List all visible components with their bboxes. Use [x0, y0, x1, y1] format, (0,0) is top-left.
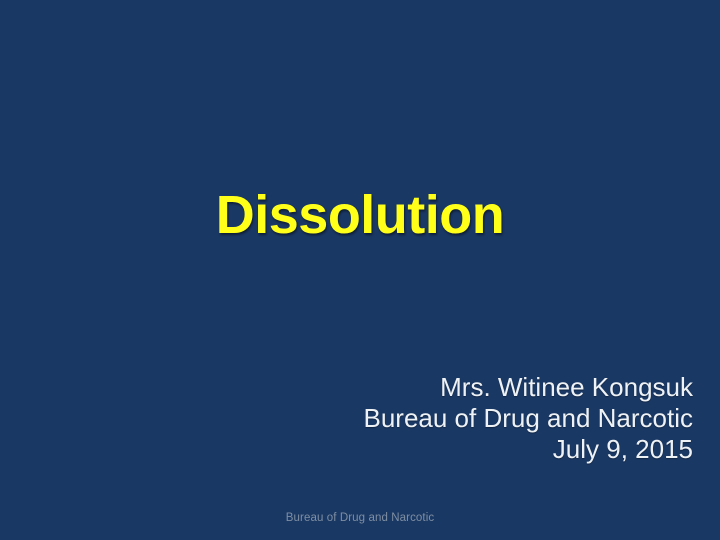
byline-organization: Bureau of Drug and Narcotic: [133, 403, 693, 434]
title-slide: Dissolution Mrs. Witinee Kongsuk Bureau …: [0, 0, 720, 540]
footer-text: Bureau of Drug and Narcotic: [286, 512, 434, 524]
slide-title-container: Dissolution: [0, 186, 720, 245]
page-title: Dissolution: [216, 186, 505, 245]
slide-footer: Bureau of Drug and Narcotic: [0, 508, 720, 526]
byline-block: Mrs. Witinee Kongsuk Bureau of Drug and …: [133, 372, 693, 465]
byline-author: Mrs. Witinee Kongsuk: [133, 372, 693, 403]
byline-date: July 9, 2015: [133, 434, 693, 465]
